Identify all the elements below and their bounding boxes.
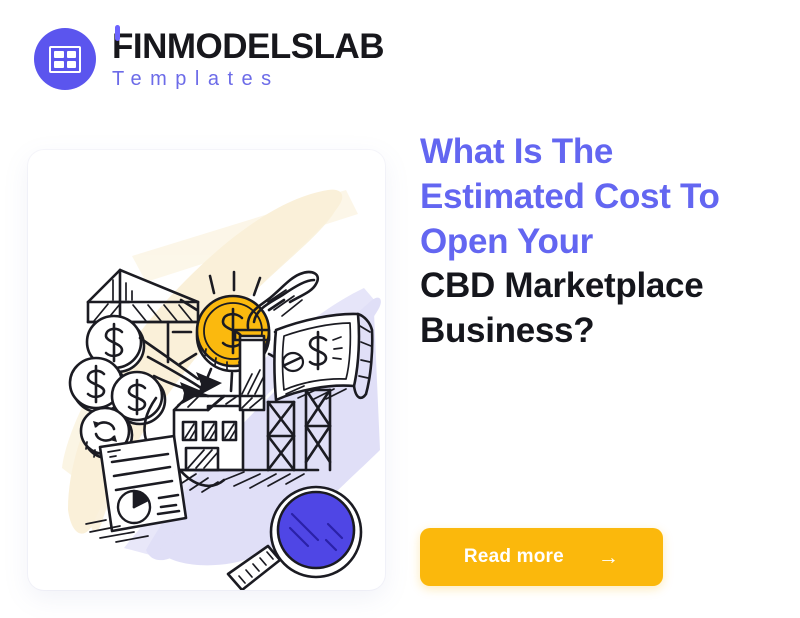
business-cost-illustration: .ink { fill:none; stroke:#1B1B22; stroke…	[28, 150, 385, 590]
grid-cell	[67, 51, 77, 58]
illustration-card: .ink { fill:none; stroke:#1B1B22; stroke…	[28, 150, 385, 590]
logo-tagline: Templates	[112, 69, 384, 89]
power-button-icon	[115, 25, 120, 41]
headline-line-dark-1: CBD Marketplace	[420, 264, 770, 309]
headline-block: What Is The Estimated Cost To Open Your …	[420, 130, 770, 354]
headline-line-accent-2: Estimated Cost To	[420, 175, 770, 220]
headline-line-accent-3: Open Your	[420, 220, 770, 265]
logo-text-block: FINMODELSLAB Templates	[112, 29, 384, 89]
read-more-button[interactable]: Read more →	[420, 528, 663, 586]
grid-squares-icon	[49, 46, 81, 73]
headline-line-dark-2: Business?	[420, 309, 770, 354]
logo-wordmark: FINMODELSLAB	[112, 29, 384, 64]
logo-mark-circle	[34, 28, 96, 90]
grid-cell	[67, 61, 77, 68]
page-title: What Is The Estimated Cost To Open Your …	[420, 130, 770, 354]
promo-banner: FINMODELSLAB Templates .ink { fill:none;…	[0, 0, 800, 618]
grid-cell	[54, 61, 64, 68]
arrow-right-icon: →	[598, 547, 619, 568]
headline-line-accent-1: What Is The	[420, 130, 770, 175]
brand-logo[interactable]: FINMODELSLAB Templates	[34, 28, 384, 90]
read-more-label: Read more	[464, 546, 564, 568]
grid-cell	[54, 51, 64, 58]
